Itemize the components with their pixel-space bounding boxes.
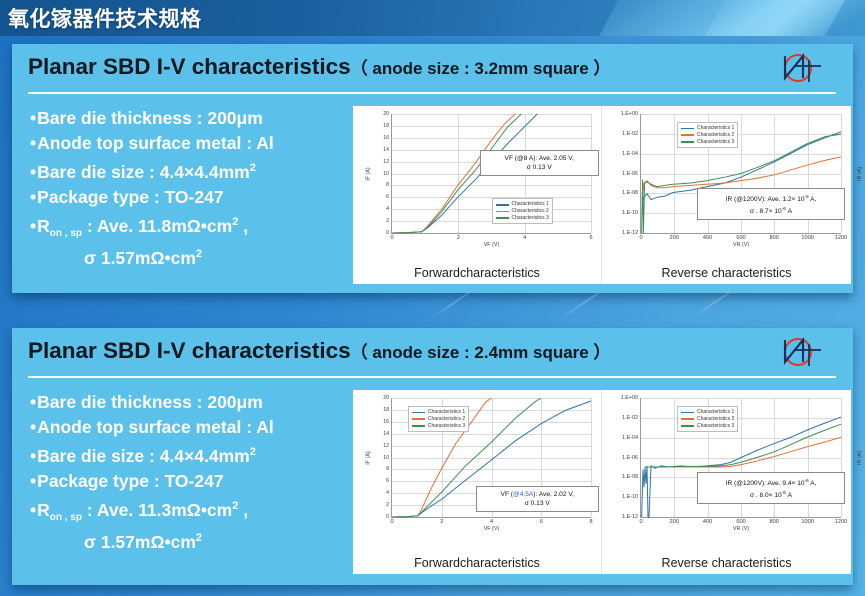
x-tick: 200: [670, 235, 679, 241]
annotation-line-1: IR (@1200V): Ave. 9.4× 10: [726, 480, 805, 487]
list-item: Package type : TO-247: [30, 469, 360, 494]
reverse-legend: Characteristics 1 Characteristics 2 Char…: [677, 406, 738, 432]
annotation-tail: A,: [809, 196, 817, 203]
x-tick: 6: [540, 519, 543, 525]
y-tick: 6: [386, 478, 389, 484]
list-item: Bare die size : 4.4×4.4mm2: [30, 156, 360, 185]
list-item: Anode top surface metal : Al: [30, 415, 360, 440]
y-tick: 4: [386, 490, 389, 496]
spec-card-2-4mm: Planar SBD I-V characteristics（ anode si…: [12, 328, 853, 585]
reverse-annotation: IR (@1200V): Ave. 9.4× 10-6 A, σ . 8.0× …: [697, 472, 845, 504]
legend-entry: Characteristics 2: [697, 132, 734, 139]
legend-entry: Characteristics 3: [697, 139, 734, 146]
y-tick: 4: [386, 206, 389, 212]
ron-sigma: σ 1.57mΩ•cm: [84, 531, 196, 551]
forward-legend: Characteristics 1 Characteristics 2 Char…: [408, 406, 469, 432]
y-tick: 1.E-04: [622, 151, 638, 157]
list-item-text: Bare die size : 4.4×4.4mm: [37, 162, 250, 182]
charts-panel: 20 18 16 14 12 10 8 6 4 2 0 0 2 4 6 VF (…: [353, 106, 851, 284]
y-tick: 6: [386, 194, 389, 200]
x-tick: 1000: [801, 519, 813, 525]
x-tick: 0: [639, 235, 642, 241]
x-tick: 2: [440, 519, 443, 525]
x-tick: 400: [703, 519, 712, 525]
card-title-main: Planar SBD I-V characteristics: [28, 54, 351, 79]
y-tick: 1.E+00: [621, 111, 638, 117]
y-tick: 8: [386, 182, 389, 188]
y-tick: 1.E-10: [622, 210, 638, 216]
x-tick: 600: [736, 519, 745, 525]
x-tick: 800: [770, 235, 779, 241]
annotation-line-1: VF (@8 A): Ave. 2.05 V,: [505, 155, 574, 162]
legend-entry: Characteristics 1: [512, 201, 549, 208]
ron-value: : Ave. 11.3mΩ•cm: [82, 500, 232, 520]
x-axis-label: VF (V): [392, 242, 591, 248]
forward-legend: Characteristics 1 Characteristics 2 Char…: [492, 198, 553, 224]
card-title: Planar SBD I-V characteristics（ anode si…: [28, 50, 853, 86]
list-item-ron: Ron , sp : Ave. 11.8mΩ•cm2 ,: [30, 210, 360, 242]
forward-plot-area: 20 18 16 14 12 10 8 6 4 2 0 0 2 4 6 VF (…: [391, 114, 591, 234]
x-tick: 0: [390, 235, 393, 241]
nct-logo-icon: [765, 332, 827, 372]
superscript: 2: [196, 532, 202, 544]
list-item-ron: Ron , sp : Ave. 11.3mΩ•cm2 ,: [30, 494, 360, 526]
forward-plot-area: 20 18 16 14 12 10 8 6 4 2 0 0 2 4 6 8: [391, 398, 591, 518]
list-item-sigma: σ 1.57mΩ•cm2: [30, 242, 360, 271]
y-tick: 12: [383, 443, 389, 449]
spec-bullet-list: Bare die thickness : 200μm Anode top sur…: [30, 106, 360, 270]
list-item: Bare die thickness : 200μm: [30, 106, 360, 131]
legend-entry: Characteristics 1: [697, 409, 734, 416]
forward-annotation: VF (@4.5A): Ave. 2.02 V, σ 0.13 V: [476, 486, 599, 512]
y-tick: 20: [383, 111, 389, 117]
x-tick: 600: [736, 235, 745, 241]
forward-chart-card1: 20 18 16 14 12 10 8 6 4 2 0 0 2 4 6 VF (…: [353, 106, 602, 284]
y-tick: 12: [383, 159, 389, 165]
y-tick: 1.E-12: [622, 514, 638, 520]
x-tick: 8: [589, 519, 592, 525]
list-item-text: Bare die size : 4.4×4.4mm: [37, 446, 250, 466]
annotation-tail: A,: [809, 480, 817, 487]
reverse-caption: Reverse characteristics: [602, 556, 851, 570]
reverse-plot-area: 1.E+00 1.E-02 1.E-04 1.E-06 1.E-08 1.E-1…: [640, 398, 841, 518]
ron-value: : Ave. 11.8mΩ•cm: [82, 216, 232, 236]
y-axis-label: IR (A): [857, 450, 863, 464]
x-tick: 800: [770, 519, 779, 525]
x-tick: 1200: [835, 235, 847, 241]
list-item: Package type : TO-247: [30, 185, 360, 210]
legend-entry: Characteristics 3: [512, 215, 549, 222]
y-axis-label: IF (A): [366, 451, 372, 464]
x-axis-label: VF (V): [392, 526, 591, 532]
annotation-line-2: σ 0.13 V: [527, 164, 552, 171]
y-tick: 14: [383, 147, 389, 153]
spec-bullet-list: Bare die thickness : 200μm Anode top sur…: [30, 390, 360, 554]
forward-caption: Forwardcharacteristics: [353, 556, 601, 570]
card-divider: [28, 92, 836, 94]
card-title-main: Planar SBD I-V characteristics: [28, 338, 351, 363]
list-item-sigma: σ 1.57mΩ•cm2: [30, 526, 360, 555]
superscript: 2: [250, 162, 256, 174]
superscript: 2: [250, 446, 256, 458]
x-tick: 4: [523, 235, 526, 241]
legend-entry: Characteristics 2: [697, 416, 734, 423]
card-divider: [28, 376, 836, 378]
y-tick: 0: [386, 230, 389, 236]
y-tick: 0: [386, 514, 389, 520]
annotation-line-1: IR (@1200V): Ave. 1.2× 10: [726, 196, 805, 203]
x-tick: 0: [639, 519, 642, 525]
charts-panel: 20 18 16 14 12 10 8 6 4 2 0 0 2 4 6 8: [353, 390, 851, 574]
y-tick: 16: [383, 135, 389, 141]
x-tick: 2: [457, 235, 460, 241]
y-tick: 2: [386, 218, 389, 224]
card-title-row: Planar SBD I-V characteristics（ anode si…: [12, 328, 853, 374]
card-title: Planar SBD I-V characteristics（ anode si…: [28, 334, 853, 370]
ron-subscript: on , sp: [50, 228, 82, 239]
y-tick: 1.E-08: [622, 190, 638, 196]
x-axis-label: VR (V): [641, 242, 841, 248]
reverse-chart-card1: 1.E+00 1.E-02 1.E-04 1.E-06 1.E-08 1.E-1…: [602, 106, 851, 284]
x-axis-label: VR (V): [641, 526, 841, 532]
y-tick: 20: [383, 395, 389, 401]
x-tick: 1200: [835, 519, 847, 525]
y-tick: 1.E-10: [622, 494, 638, 500]
reverse-annotation: IR (@1200V): Ave. 1.2× 10-5 A, σ . 8.7× …: [697, 188, 845, 220]
y-tick: 10: [383, 171, 389, 177]
y-tick: 1.E-02: [622, 415, 638, 421]
y-tick: 8: [386, 466, 389, 472]
y-axis-label: IR (A): [857, 166, 863, 180]
card-title-sub: （ anode size : 3.2mm square ）: [351, 59, 611, 78]
card-title-sub: （ anode size : 2.4mm square ）: [351, 343, 611, 362]
ron-subscript: on , sp: [50, 512, 82, 523]
list-item: Anode top surface metal : Al: [30, 131, 360, 156]
forward-chart-card2: 20 18 16 14 12 10 8 6 4 2 0 0 2 4 6 8: [353, 390, 602, 574]
x-tick: 400: [703, 235, 712, 241]
list-item: Bare die size : 4.4×4.4mm2: [30, 440, 360, 469]
reverse-plot-area: 1.E+00 1.E-02 1.E-04 1.E-06 1.E-08 1.E-1…: [640, 114, 841, 234]
annotation-condition: @4.5A: [513, 491, 533, 498]
y-tick: 1.E-08: [622, 474, 638, 480]
y-tick: 1.E-06: [622, 171, 638, 177]
nct-logo-icon: [765, 48, 827, 88]
ron-tail: ,: [238, 216, 248, 236]
reverse-caption: Reverse characteristics: [602, 266, 851, 280]
legend-entry: Characteristics 1: [428, 409, 465, 416]
reverse-legend: Characteristics 1 Characteristics 2 Char…: [677, 122, 738, 148]
y-tick: 1.E-02: [622, 131, 638, 137]
reverse-chart-card2: 1.E+00 1.E-02 1.E-04 1.E-06 1.E-08 1.E-1…: [602, 390, 851, 574]
y-tick: 1.E+00: [621, 395, 638, 401]
legend-entry: Characteristics 3: [428, 423, 465, 430]
x-tick: 1000: [801, 235, 813, 241]
x-tick: 4: [490, 519, 493, 525]
ron-sigma: σ 1.57mΩ•cm: [84, 247, 196, 267]
y-tick: 1.E-12: [622, 230, 638, 236]
annotation-line-2: σ . 8.0× 10: [750, 492, 782, 499]
slide-page: 氧化镓器件技术规格 Planar SBD I-V characteristics…: [0, 0, 865, 596]
legend-entry: Characteristics 2: [512, 208, 549, 215]
x-tick: 200: [670, 519, 679, 525]
forward-caption: Forwardcharacteristics: [353, 266, 601, 280]
annotation-tail: A: [786, 208, 792, 215]
ron-tail: ,: [238, 500, 248, 520]
y-tick: 1.E-06: [622, 455, 638, 461]
superscript: 2: [196, 248, 202, 260]
x-tick: 6: [589, 235, 592, 241]
legend-entry: Characteristics 3: [697, 423, 734, 430]
y-tick: 2: [386, 502, 389, 508]
y-tick: 10: [383, 455, 389, 461]
y-tick: 16: [383, 419, 389, 425]
ron-label: R: [37, 216, 50, 236]
card-title-row: Planar SBD I-V characteristics（ anode si…: [12, 44, 853, 90]
y-tick: 1.E-04: [622, 435, 638, 441]
y-tick: 14: [383, 431, 389, 437]
x-tick: 0: [390, 519, 393, 525]
y-tick: 18: [383, 407, 389, 413]
annotation-line-2: σ 0.13 V: [525, 500, 550, 507]
ron-label: R: [37, 500, 50, 520]
forward-annotation: VF (@8 A): Ave. 2.05 V, σ 0.13 V: [480, 150, 599, 176]
annotation-line-2: σ . 8.7× 10: [750, 208, 782, 215]
spec-card-3-2mm: Planar SBD I-V characteristics（ anode si…: [12, 44, 853, 293]
slide-header: 氧化镓器件技术规格: [0, 0, 865, 36]
list-item: Bare die thickness : 200μm: [30, 390, 360, 415]
y-tick: 18: [383, 123, 389, 129]
legend-entry: Characteristics 1: [697, 125, 734, 132]
annotation-tail: A: [786, 492, 792, 499]
annotation-prefix: VF (: [501, 491, 513, 498]
page-title: 氧化镓器件技术规格: [8, 3, 202, 33]
annotation-line-1: ): Ave. 2.02 V,: [533, 491, 574, 498]
legend-entry: Characteristics 2: [428, 416, 465, 423]
y-axis-label: IF (A): [366, 167, 372, 180]
